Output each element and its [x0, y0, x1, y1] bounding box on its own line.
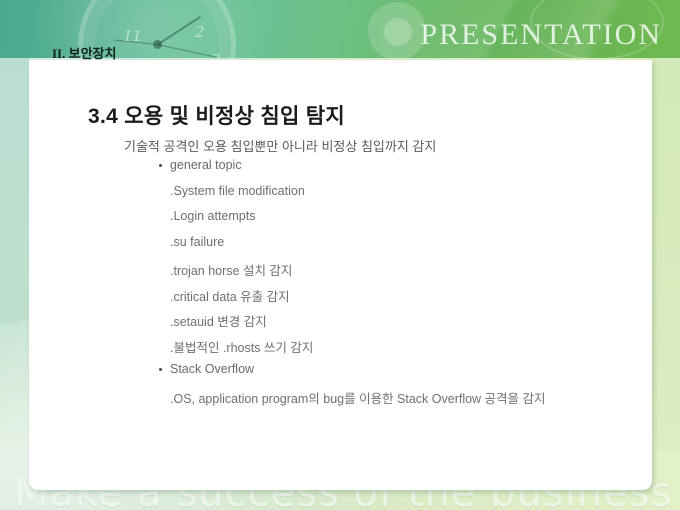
bullet-item: general topic: [158, 158, 628, 184]
clock-center-pin: [153, 40, 162, 49]
sub-bullet-item: .OS, application program의 bug를 이용한 Stack…: [158, 388, 628, 414]
bullet-label: .불법적인 .rhosts 쓰기 감지: [170, 341, 313, 355]
sub-bullet-item: .Login attempts: [158, 209, 628, 235]
sub-bullet-item: .su failure: [158, 235, 628, 261]
clock-hand-second: [157, 44, 216, 57]
bullet-label: .OS, application program의 bug를 이용한 Stack…: [170, 392, 546, 406]
bullet-label: .setauid 변경 감지: [170, 315, 267, 329]
right-accent-band: [650, 57, 680, 510]
circle-logo-dot-icon: [384, 18, 412, 46]
bullet-label: general topic: [170, 158, 242, 172]
bullet-label: .Login attempts: [170, 209, 255, 223]
presentation-brand-text: PRESENTATION: [420, 20, 662, 50]
slide-title: 3.4 오용 및 비정상 침입 탐지: [88, 100, 345, 130]
sub-bullet-item: .trojan horse 설치 감지: [158, 260, 628, 286]
sub-bullet-item: .System file modification: [158, 184, 628, 210]
bullet-list: general topic.System file modification.L…: [158, 158, 628, 413]
bullet-label: .System file modification: [170, 184, 305, 198]
bullet-label: .critical data 유출 감지: [170, 290, 290, 304]
bullet-dot-icon: [159, 164, 162, 167]
presentation-slide: Make a success of the business 10 11 2 3…: [0, 0, 680, 510]
slide-subtitle: 기술적 공격인 오용 침입뿐만 아니라 비정상 침입까지 감지: [124, 136, 436, 155]
sub-bullet-item: .불법적인 .rhosts 쓰기 감지: [158, 337, 628, 363]
bullet-dot-icon: [159, 368, 162, 371]
bullet-label: .trojan horse 설치 감지: [170, 264, 292, 278]
sub-bullet-item: .critical data 유출 감지: [158, 286, 628, 312]
sub-bullet-item: .setauid 변경 감지: [158, 311, 628, 337]
clock-numeral-2: 2: [195, 23, 205, 41]
bullet-label: .su failure: [170, 235, 224, 249]
bullet-label: Stack Overflow: [170, 362, 254, 376]
bullet-item: Stack Overflow: [158, 362, 628, 388]
